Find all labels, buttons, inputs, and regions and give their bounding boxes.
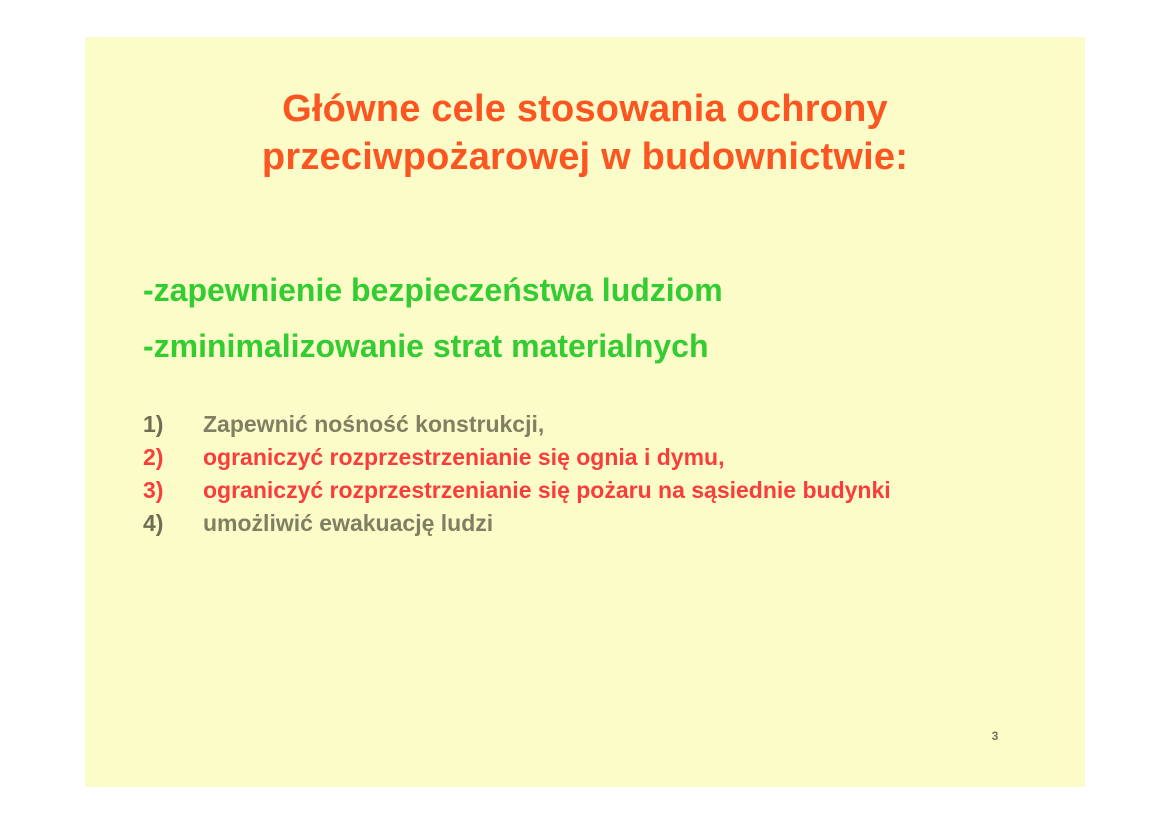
list-item-text: Zapewnić nośność konstrukcji,: [203, 409, 903, 439]
list-item: 3) ograniczyć rozprzestrzenianie się poż…: [143, 475, 1043, 505]
slide-title-line-2: przeciwpożarowej w budownictwie:: [85, 133, 1085, 181]
list-item-marker: 3): [143, 475, 203, 505]
list-item-marker: 1): [143, 409, 203, 439]
green-objective-item-1: -zapewnienie bezpieczeństwa ludziom: [143, 262, 1043, 318]
slide-title: Główne cele stosowania ochrony przeciwpo…: [85, 85, 1085, 181]
green-objectives-list: -zapewnienie bezpieczeństwa ludziom -zmi…: [143, 262, 1043, 374]
list-item-text: ograniczyć rozprzestrzenianie się pożaru…: [203, 475, 903, 505]
list-item: 1) Zapewnić nośność konstrukcji,: [143, 409, 1043, 439]
list-item: 2) ograniczyć rozprzestrzenianie się ogn…: [143, 442, 1043, 472]
slide-page-number: 3: [980, 729, 1010, 743]
green-objective-item-2: -zminimalizowanie strat materialnych: [143, 318, 1043, 374]
slide-canvas: Główne cele stosowania ochrony przeciwpo…: [0, 0, 1169, 826]
list-item-marker: 2): [143, 442, 203, 472]
list-item: 4) umożliwić ewakuację ludzi: [143, 508, 1043, 538]
list-item-text: umożliwić ewakuację ludzi: [203, 508, 903, 538]
list-item-text: ograniczyć rozprzestrzenianie się ognia …: [203, 442, 903, 472]
slide-title-line-1: Główne cele stosowania ochrony: [85, 85, 1085, 133]
list-item-marker: 4): [143, 508, 203, 538]
presentation-slide: Główne cele stosowania ochrony przeciwpo…: [85, 37, 1085, 787]
numbered-requirements-list: 1) Zapewnić nośność konstrukcji, 2) ogra…: [143, 409, 1043, 541]
